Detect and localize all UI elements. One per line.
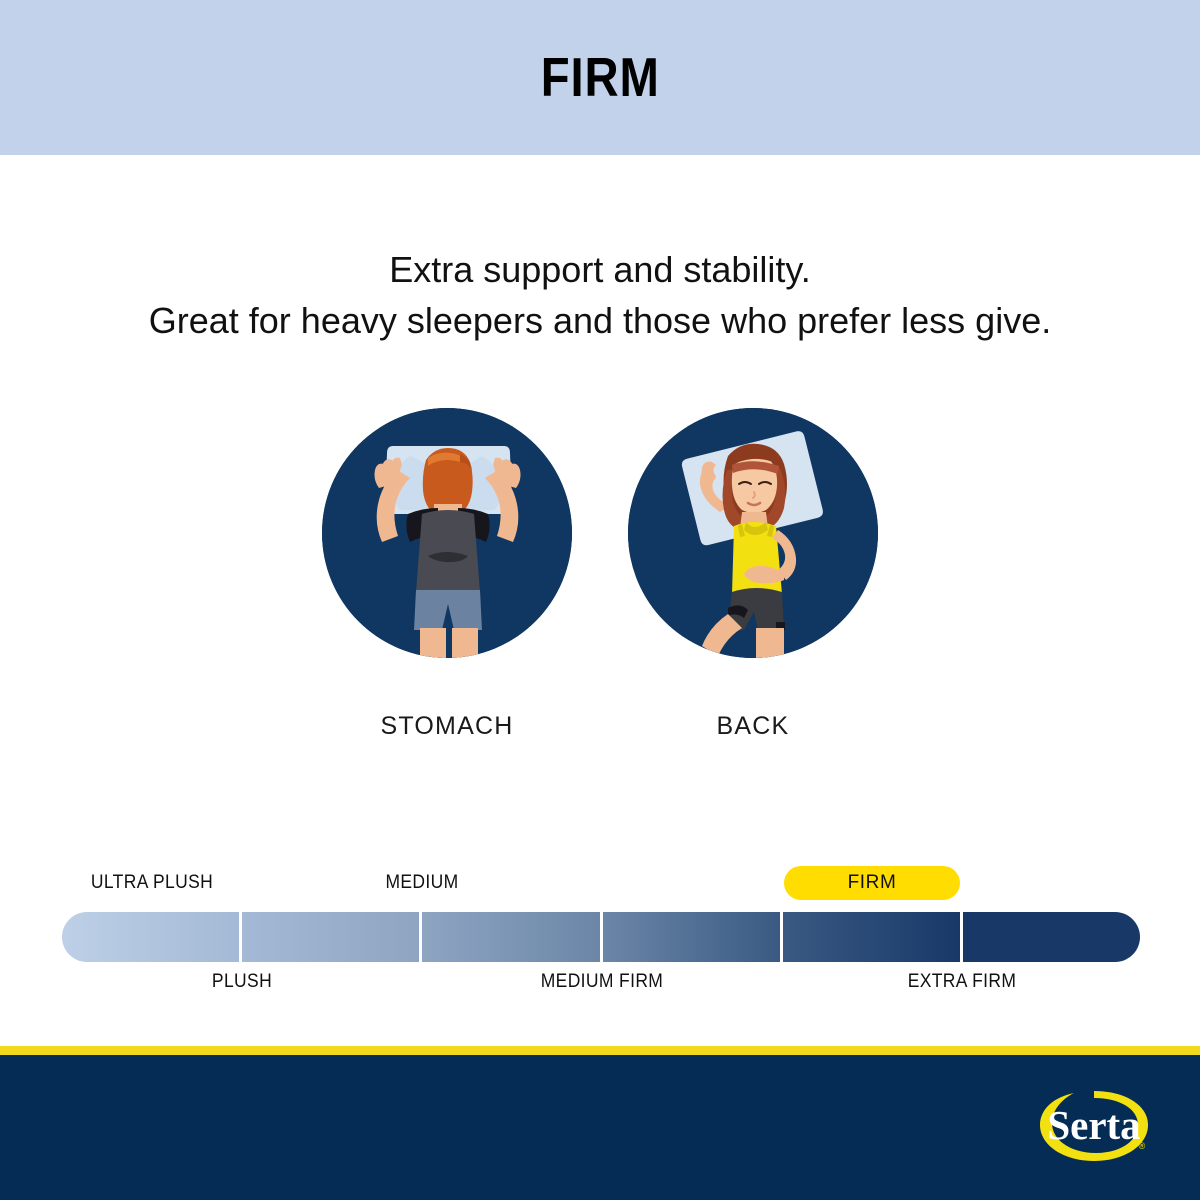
scale-label-medium-firm: MEDIUM FIRM (512, 971, 692, 993)
sleep-positions-group: STOMACH (0, 408, 1200, 741)
firmness-scale: ULTRA PLUSH PLUSH MEDIUM MEDIUM FIRM EXT… (62, 866, 1140, 1001)
subtitle-line-1: Extra support and stability. (0, 244, 1200, 295)
back-sleeper-icon (628, 408, 878, 658)
scale-segment-medium-firm[interactable] (603, 912, 783, 962)
subtitle-text: Extra support and stability. Great for h… (0, 244, 1200, 346)
scale-segment-extra-firm[interactable] (963, 912, 1140, 962)
scale-segment-firm[interactable] (783, 912, 963, 962)
svg-text:Serta: Serta (1047, 1102, 1140, 1148)
scale-label-extra-firm: EXTRA FIRM (872, 971, 1052, 993)
footer-accent-stripe (0, 1046, 1200, 1055)
header-banner: FIRM (0, 0, 1200, 155)
scale-label-medium: MEDIUM (332, 872, 512, 894)
subtitle-line-2: Great for heavy sleepers and those who p… (0, 295, 1200, 346)
page-title: FIRM (540, 50, 659, 105)
position-label-stomach: STOMACH (381, 712, 514, 741)
serta-logo[interactable]: Serta ® (1030, 1081, 1158, 1177)
position-back: BACK (622, 408, 884, 741)
scale-label-plush: PLUSH (152, 971, 332, 993)
firmness-scale-bar (62, 912, 1140, 962)
stomach-sleeper-icon (322, 408, 572, 658)
footer-bar (0, 1055, 1200, 1200)
firmness-info-card: FIRM Extra support and stability. Great … (0, 0, 1200, 1200)
scale-segment-plush[interactable] (242, 912, 422, 962)
scale-segment-medium[interactable] (422, 912, 602, 962)
selected-firmness-badge[interactable]: FIRM (784, 866, 960, 900)
position-label-back: BACK (717, 712, 790, 741)
scale-segment-ultra-plush[interactable] (62, 912, 242, 962)
svg-text:®: ® (1139, 1141, 1146, 1151)
scale-label-ultra-plush: ULTRA PLUSH (62, 872, 242, 894)
position-stomach: STOMACH (316, 408, 578, 741)
